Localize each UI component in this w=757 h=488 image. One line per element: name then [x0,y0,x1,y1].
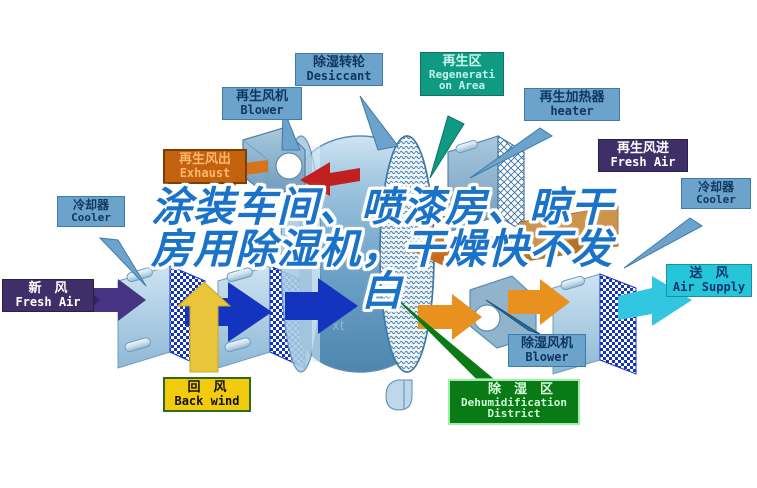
label-cooler-left-cn: 冷却器 [62,199,120,212]
label-dehumidification-blower-en: Blower [513,351,581,364]
label-fresh-air-in: 新 风 Fresh Air [2,279,94,312]
label-back-wind-en: Back wind [169,395,245,408]
label-desiccant-en: Desiccant [300,70,378,83]
leader-dehum-blower [486,300,540,334]
label-desiccant: 除湿转轮 Desiccant [295,53,383,86]
label-desiccant-cn: 除湿转轮 [300,56,378,70]
label-cooler-right-cn: 冷却器 [686,181,746,194]
label-regeneration-area-cn: 再生区 [425,55,499,69]
label-air-supply: 送 风 Air Supply [666,264,752,297]
leader-regen-area [430,116,464,178]
label-cooler-left-en: Cooler [62,212,120,224]
label-dehumidification-blower-cn: 除湿风机 [513,337,581,351]
label-exhaust-en: Exhaust [169,167,241,180]
label-fresh-air-in-cn: 新 风 [7,282,89,296]
label-air-supply-cn: 送 风 [671,267,747,281]
label-regeneration-fresh-air-in-cn: 再生风进 [603,142,683,156]
leader-cooler-left [100,238,146,286]
label-dehumidification-district: 除 湿 区 Dehumidification District [448,379,580,425]
leader-cooler-right [624,218,702,268]
leader-desiccant [360,96,398,150]
label-cooler-right-en: Cooler [686,194,746,206]
diagram-canvas: xt [0,0,757,488]
label-regeneration-blower-cn: 再生风机 [227,90,297,104]
label-regeneration-fresh-air-in-en: Fresh Air [603,156,683,169]
label-exhaust: 再生风出 Exhaust [163,149,247,184]
label-regeneration-area: 再生区 Regenerati on Area [420,52,504,96]
leader-heater [470,128,552,178]
label-regeneration-heater: 再生加热器 heater [524,88,620,121]
label-exhaust-cn: 再生风出 [169,153,241,167]
label-regeneration-area-en-2: on Area [425,80,499,92]
label-air-supply-en: Air Supply [671,281,747,294]
label-fresh-air-in-en: Fresh Air [7,296,89,309]
label-regeneration-fresh-air-in: 再生风进 Fresh Air [598,139,688,172]
label-dehumidification-blower: 除湿风机 Blower [508,334,586,367]
label-back-wind: 回 风 Back wind [163,377,251,412]
label-dehumidification-district-en-2: District [454,408,574,420]
label-regeneration-heater-en: heater [529,105,615,118]
leader-dehum-district [398,300,492,378]
label-cooler-left: 冷却器 Cooler [57,196,125,227]
label-regeneration-blower-en: Blower [227,104,297,117]
label-regeneration-heater-cn: 再生加热器 [529,91,615,105]
label-back-wind-cn: 回 风 [169,381,245,395]
label-dehumidification-district-cn: 除 湿 区 [454,383,574,397]
label-cooler-right: 冷却器 Cooler [681,178,751,209]
label-regeneration-blower: 再生风机 Blower [222,87,302,120]
